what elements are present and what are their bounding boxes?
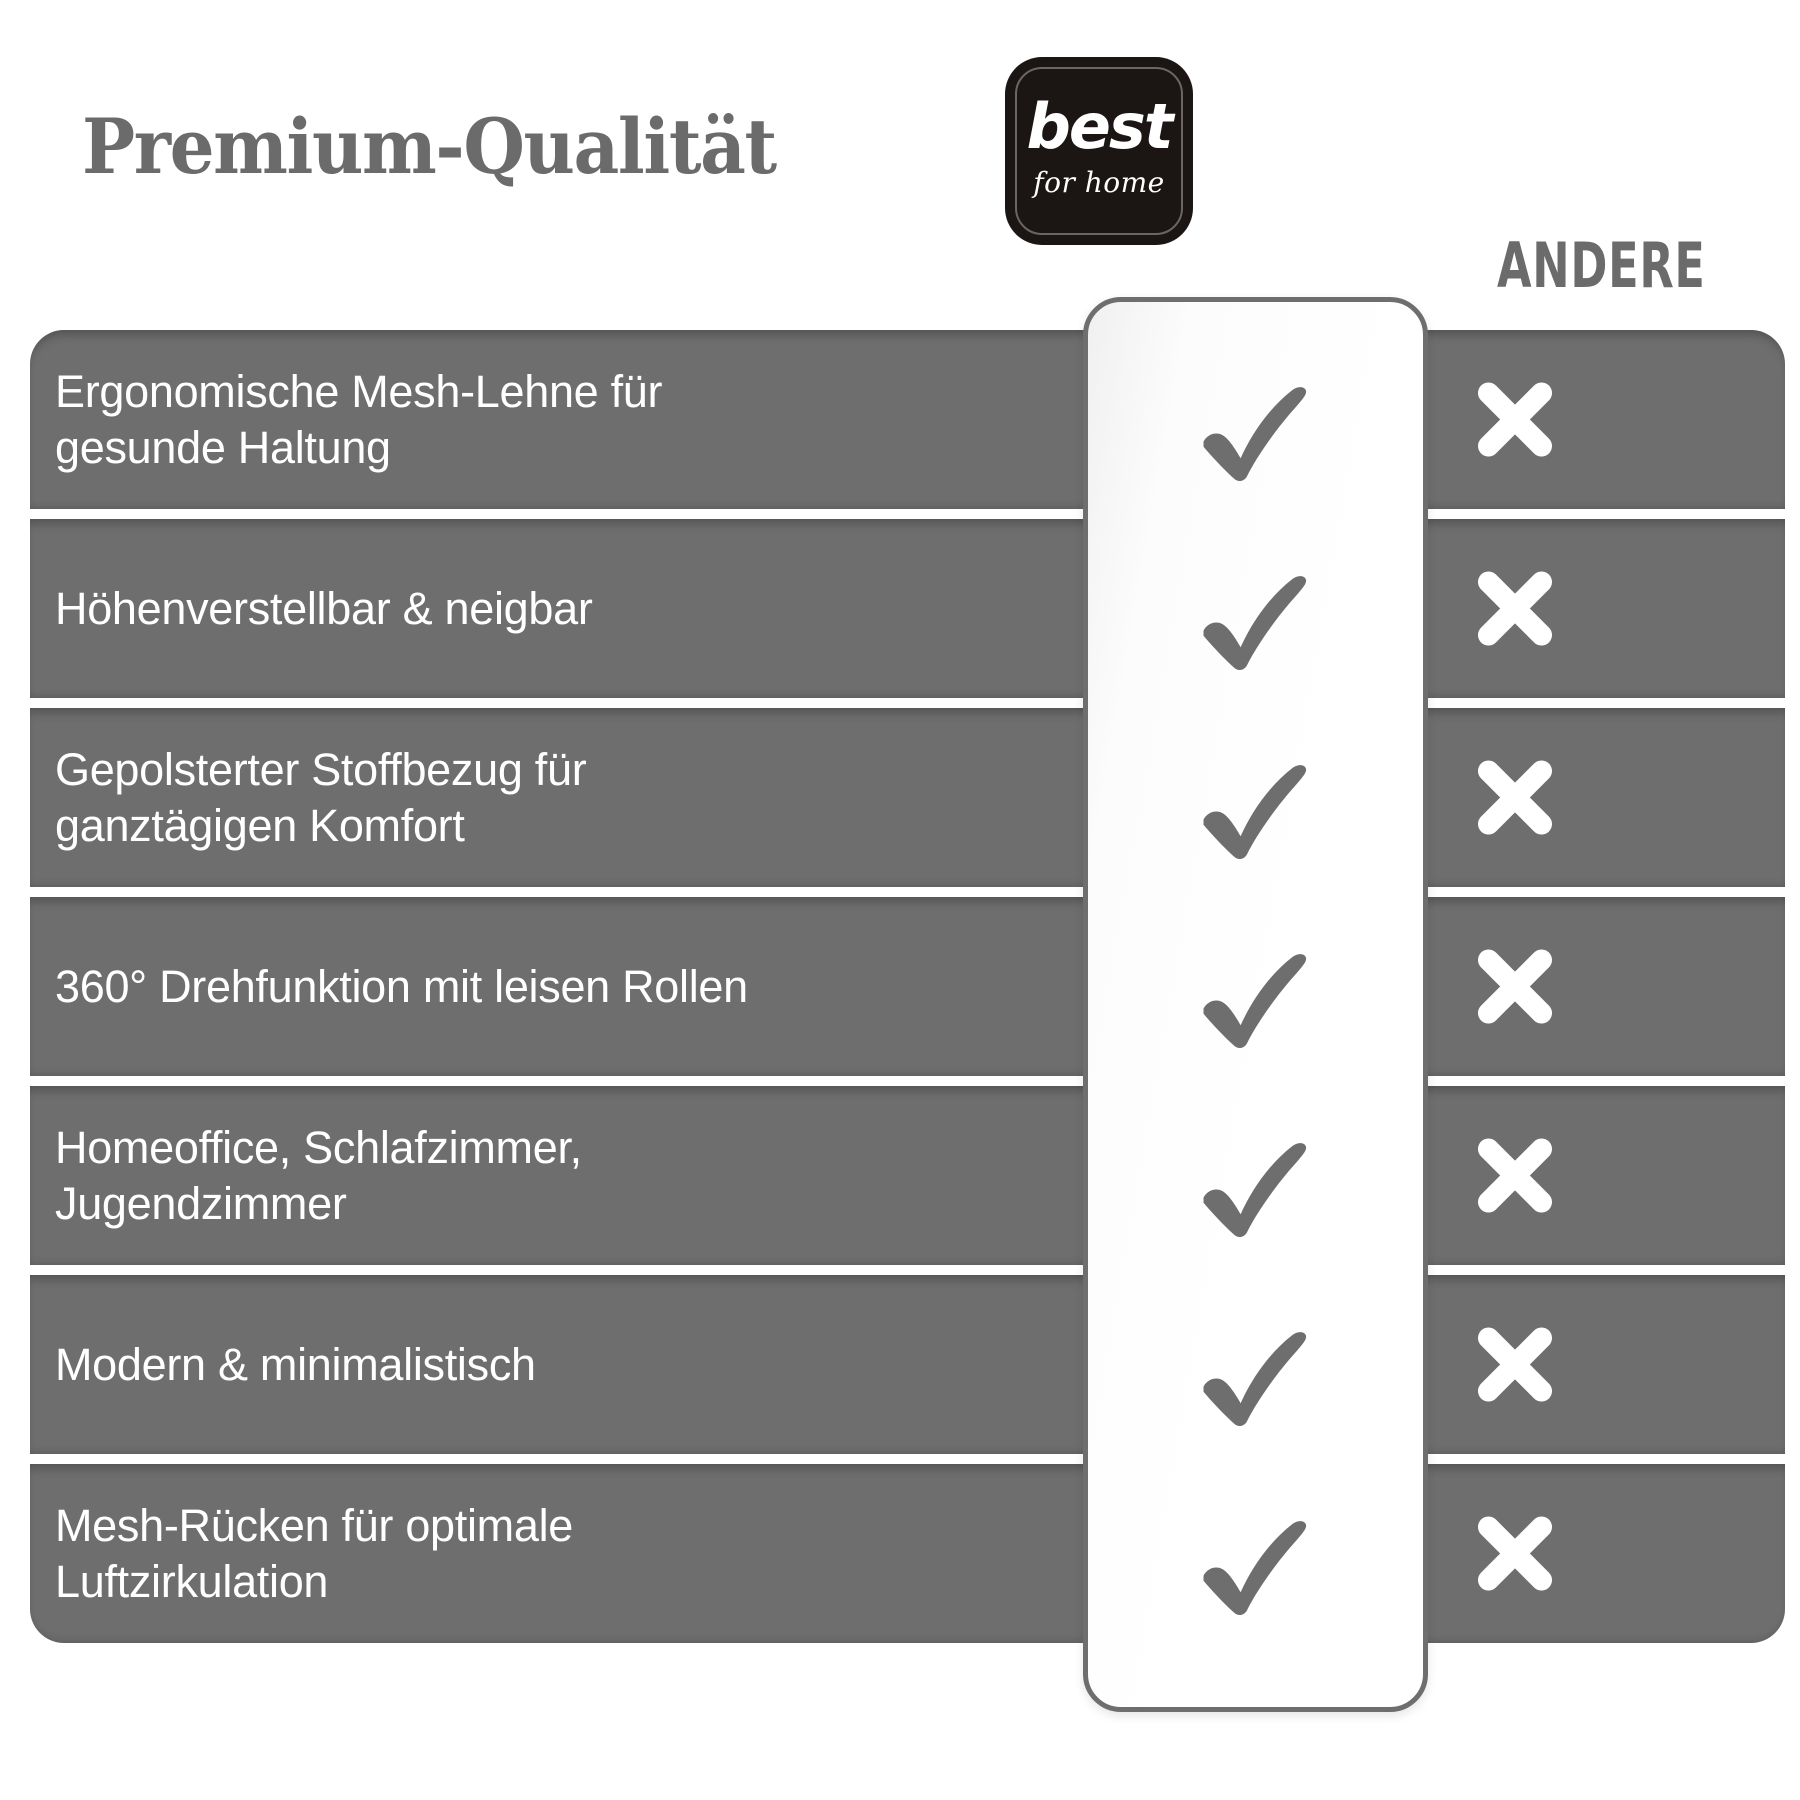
feature-label: Höhenverstellbar & neigbar	[55, 519, 935, 698]
feature-label: Mesh-Rücken für optimale Luftzirkulation	[55, 1464, 935, 1643]
brand-cell	[1088, 1469, 1423, 1648]
comparison-table: Ergonomische Mesh-Lehne für gesunde Halt…	[30, 330, 1785, 1643]
table-row: Gepolsterter Stoffbezug für ganztägigen …	[30, 708, 1785, 887]
check-icon	[1192, 1495, 1320, 1623]
table-row: 360° Drehfunktion mit leisen Rollen	[30, 897, 1785, 1076]
cross-icon	[1468, 1129, 1562, 1223]
cross-icon	[1468, 940, 1562, 1034]
brand-cell	[1088, 902, 1423, 1081]
check-icon	[1192, 1306, 1320, 1434]
check-icon	[1192, 361, 1320, 489]
cross-icon	[1468, 1318, 1562, 1412]
check-icon	[1192, 928, 1320, 1056]
cross-icon	[1468, 562, 1562, 656]
feature-label: Homeoffice, Schlafzimmer, Jugendzimmer	[55, 1086, 935, 1265]
brand-highlight-column	[1083, 297, 1428, 1712]
competitor-column-header: ANDERE	[1497, 235, 1706, 297]
feature-label: 360° Drehfunktion mit leisen Rollen	[55, 897, 935, 1076]
brand-logo-wordmark: best	[1008, 96, 1190, 158]
cross-icon	[1468, 751, 1562, 845]
feature-label: Gepolsterter Stoffbezug für ganztägigen …	[55, 708, 935, 887]
check-icon	[1192, 1117, 1320, 1245]
table-row: Homeoffice, Schlafzimmer, Jugendzimmer	[30, 1086, 1785, 1265]
header: Premium-Qualität best for home ANDERE	[0, 0, 1800, 330]
brand-cell	[1088, 524, 1423, 703]
check-icon	[1192, 550, 1320, 678]
brand-cell	[1088, 1280, 1423, 1459]
feature-label: Modern & minimalistisch	[55, 1275, 935, 1454]
table-row: Höhenverstellbar & neigbar	[30, 519, 1785, 698]
brand-cell	[1088, 335, 1423, 514]
check-icon	[1192, 739, 1320, 867]
table-row: Modern & minimalistisch	[30, 1275, 1785, 1454]
cross-icon	[1468, 373, 1562, 467]
page-title: Premium-Qualität	[82, 102, 776, 191]
table-row: Ergonomische Mesh-Lehne für gesunde Halt…	[30, 330, 1785, 509]
brand-cell	[1088, 713, 1423, 892]
brand-cell	[1088, 1091, 1423, 1270]
cross-icon	[1468, 1507, 1562, 1601]
brand-logo-tagline: for home	[1008, 168, 1190, 198]
brand-logo: best for home	[1008, 60, 1190, 242]
table-row: Mesh-Rücken für optimale Luftzirkulation	[30, 1464, 1785, 1643]
feature-label: Ergonomische Mesh-Lehne für gesunde Halt…	[55, 330, 935, 509]
